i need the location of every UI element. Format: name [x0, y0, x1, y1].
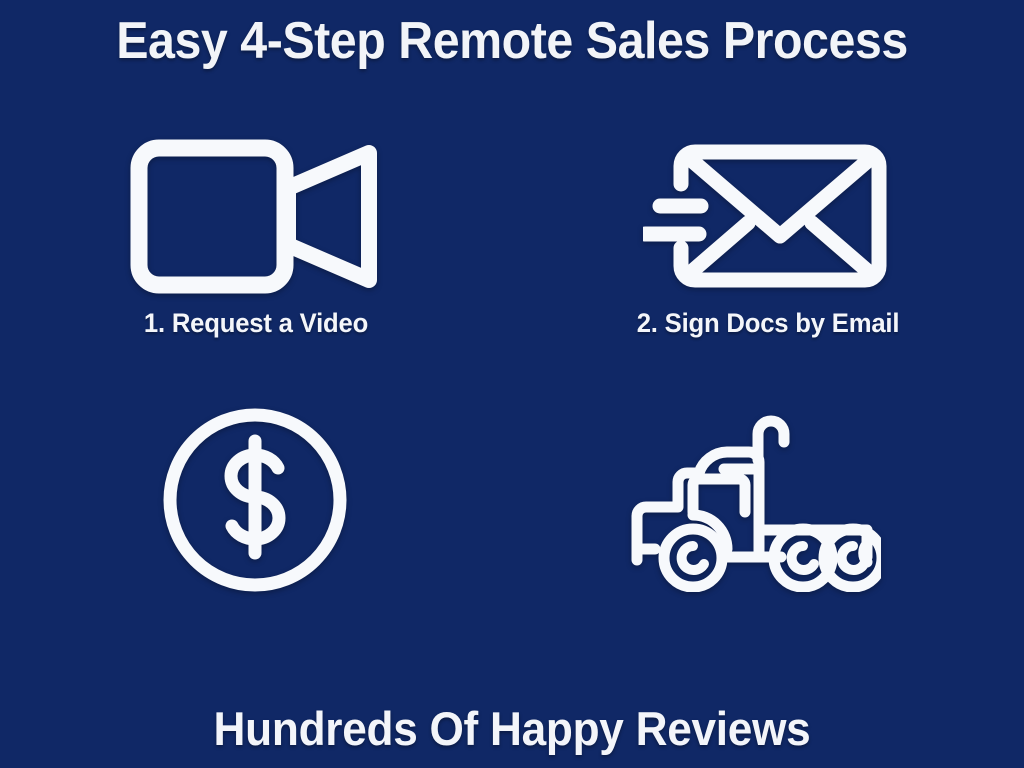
dollar-coin-icon [0, 410, 511, 590]
step-label-2: 2. Sign Docs by Email [525, 308, 1011, 339]
footer-tagline: Hundreds Of Happy Reviews [31, 700, 994, 758]
steps-grid: 1. Request a Video [0, 112, 1024, 672]
envelope-speed-icon [513, 126, 1024, 306]
infographic-canvas: Easy 4-Step Remote Sales Process 1. Requ… [0, 0, 1024, 768]
step-item-3[interactable]: 3. Send Payment [0, 392, 512, 672]
page-title: Easy 4-Step Remote Sales Process [36, 8, 988, 74]
step-item-4[interactable]: 4. We Coordinate Shipping [512, 392, 1024, 672]
step-item-2[interactable]: 2. Sign Docs by Email [512, 112, 1024, 392]
semi-truck-icon [500, 412, 1012, 592]
step-label-1: 1. Request a Video [13, 308, 499, 339]
video-camera-icon [0, 126, 511, 306]
step-item-1[interactable]: 1. Request a Video [0, 112, 512, 392]
